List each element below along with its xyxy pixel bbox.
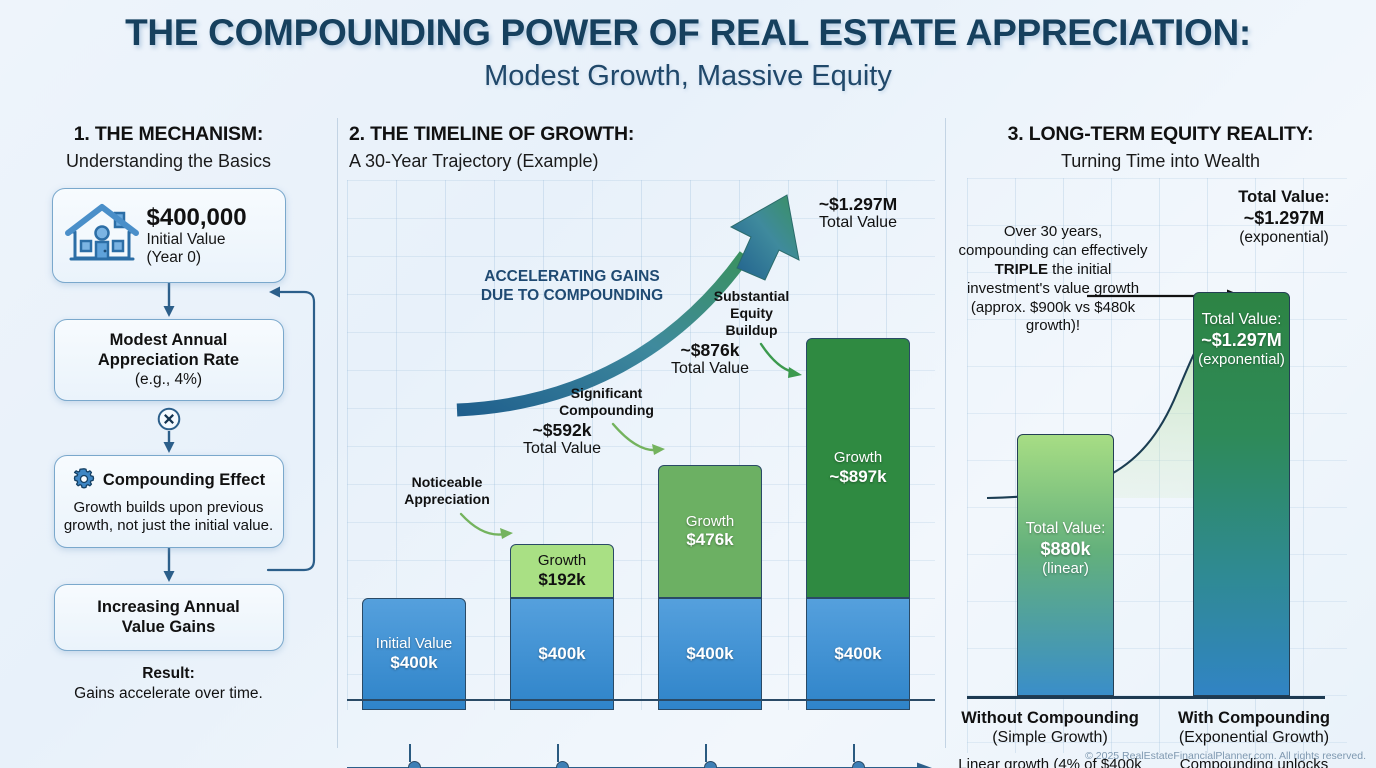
bar-exp-value: ~$1.297M — [1198, 330, 1285, 352]
equity-chart-baseline — [967, 696, 1325, 699]
bar-year-20-growth-segment: Growth $476k — [658, 465, 762, 598]
bar-year-20-growth-amount: $476k — [686, 530, 734, 550]
bar-without-compounding-label: Total Value: $880k (linear) — [1026, 520, 1106, 578]
panel-equity-reality: 3. LONG-TERM EQUITY REALITY: Turning Tim… — [945, 116, 1376, 768]
result-text: Gains accelerate over time. — [0, 685, 337, 703]
panel-equity-header: 3. LONG-TERM EQUITY REALITY: Turning Tim… — [945, 116, 1376, 172]
flow-node-appreciation-rate: Modest Annual Appreciation Rate (e.g., 4… — [54, 319, 284, 401]
callout-significant-line2: Compounding — [544, 402, 669, 419]
bar-year-10: $400k Growth $192k — [510, 544, 614, 710]
initial-value-text: $400,000 Initial Value (Year 0) — [147, 204, 247, 268]
bar-year-0-label-name: Initial Value — [376, 635, 452, 652]
bar-year-20-initial-amount: $400k — [686, 644, 733, 664]
panel-mechanism: 1. THE MECHANISM: Understanding the Basi… — [0, 116, 337, 768]
callout-substantial-line2: Equity — [699, 305, 804, 322]
bar-year-10-growth-name: Growth — [538, 552, 586, 569]
bar-year-10-growth-label: Growth $192k — [538, 552, 586, 589]
curved-arrow-noticeable — [457, 508, 519, 548]
callout-noticeable-line2: Appreciation — [392, 491, 502, 508]
page-title: THE COMPOUNDING POWER OF REAL ESTATE APP… — [0, 14, 1376, 53]
infographic-header: THE COMPOUNDING POWER OF REAL ESTATE APP… — [0, 0, 1376, 93]
footer-with-sub: (Exponential Growth) — [1143, 728, 1365, 748]
total-value-label-year-30: Total Value — [783, 214, 933, 232]
panel-mechanism-subheading: Understanding the Basics — [0, 151, 337, 172]
panel-equity-heading: 3. LONG-TERM EQUITY REALITY: — [945, 123, 1376, 146]
bar-year-10-initial-amount: $400k — [538, 644, 585, 664]
bar-year-10-initial-segment: $400k — [510, 598, 614, 710]
gains-line-1: Increasing Annual — [63, 598, 275, 618]
bar-without-compounding: Total Value: $880k (linear) — [1017, 434, 1114, 696]
callout-noticeable-line1: Noticeable — [392, 474, 502, 491]
flow-arrow-2 — [161, 431, 177, 455]
bar-year-30-initial-segment: $400k — [806, 598, 910, 710]
house-icon — [65, 202, 139, 269]
compounding-note-text: Over 30 years, compounding can effective… — [958, 223, 1147, 334]
panel-equity-subheading: Turning Time into Wealth — [945, 151, 1376, 172]
callout-noticeable-appreciation: Noticeable Appreciation — [392, 474, 502, 508]
mechanism-flowchart: $400,000 Initial Value (Year 0) Modest A… — [0, 188, 337, 651]
rate-line-2: Appreciation Rate — [63, 351, 275, 371]
bar-year-30-initial-amount: $400k — [834, 644, 881, 664]
equity-top-caption-type: (exponential) — [1204, 229, 1364, 248]
compounding-note-emphasis: TRIPLE — [995, 261, 1048, 278]
bar-year-10-growth-segment: Growth $192k — [510, 544, 614, 598]
bar-year-30: $400k Growth ~$897k — [806, 338, 910, 710]
callout-substantial-line3: Buildup — [699, 322, 804, 339]
equity-top-caption-line1: Total Value: — [1204, 188, 1364, 208]
footer-without-title: Without Compounding — [957, 708, 1143, 728]
bar-year-0-initial-segment: Initial Value Initial Value $400k $400k — [362, 598, 466, 710]
equity-top-caption-value: ~$1.297M — [1204, 208, 1364, 230]
panel-timeline: 2. THE TIMELINE OF GROWTH: A 30-Year Tra… — [337, 116, 945, 768]
callout-substantial-equity: Substantial Equity Buildup — [699, 288, 804, 338]
bar-year-20-growth-name: Growth — [686, 513, 734, 530]
copyright-notice: © 2025 RealEstateFinancialPlanner.com. A… — [1085, 750, 1366, 762]
bar-year-30-growth-amount: ~$897k — [829, 467, 886, 487]
mechanism-result: Result: Gains accelerate over time. — [0, 665, 337, 703]
flow-node-compounding-effect: Compounding Effect Growth builds upon pr… — [54, 455, 284, 548]
bar-linear-value: $880k — [1026, 539, 1106, 561]
bar-year-0-amount: $400k — [376, 653, 452, 673]
timeline-dot-year-30[interactable] — [852, 761, 865, 768]
curved-arrow-significant — [609, 420, 671, 466]
flow-node-increasing-gains: Increasing Annual Value Gains — [54, 584, 284, 652]
bar-year-20-initial-segment: $400k — [658, 598, 762, 710]
total-value-year-30: ~$1.297M — [783, 194, 933, 214]
bar-exp-type: (exponential) — [1198, 351, 1285, 369]
panel-timeline-header: 2. THE TIMELINE OF GROWTH: A 30-Year Tra… — [337, 116, 945, 172]
timeline-dot-year-10[interactable] — [556, 761, 569, 768]
bar-year-30-growth-name: Growth — [829, 449, 886, 466]
bar-year-20: $400k Growth $476k — [658, 465, 762, 710]
total-caption-year-30: ~$1.297M Total Value — [783, 194, 933, 233]
initial-value-year: (Year 0) — [147, 249, 247, 267]
bar-year-0: Initial Value Initial Value $400k $400k — [362, 598, 466, 710]
compounding-title-row: Compounding Effect — [63, 467, 275, 496]
callout-significant-line1: Significant — [544, 385, 669, 402]
accelerating-gains-line1: ACCELERATING GAINS — [472, 268, 672, 287]
flow-arrow-1 — [161, 283, 177, 319]
accelerating-gains-label: ACCELERATING GAINS DUE TO COMPOUNDING — [472, 268, 672, 305]
footer-with-title: With Compounding — [1143, 708, 1365, 728]
initial-value-label: Initial Value — [147, 231, 247, 249]
bar-year-10-growth-amount: $192k — [538, 570, 586, 590]
compounding-body: Growth builds upon previous growth, not … — [63, 499, 275, 536]
compounding-note: Over 30 years, compounding can effective… — [957, 223, 1149, 336]
bar-linear-type: (linear) — [1026, 560, 1106, 578]
flow-arrow-3 — [161, 548, 177, 584]
bar-with-compounding-label: Total Value: ~$1.297M (exponential) — [1198, 311, 1285, 369]
timeline-bar-chart: ACCELERATING GAINS DUE TO COMPOUNDING In… — [347, 180, 935, 710]
compounding-title: Compounding Effect — [103, 471, 265, 491]
panel-mechanism-header: 1. THE MECHANISM: Understanding the Basi… — [0, 116, 337, 172]
chart-baseline-axis — [347, 699, 935, 701]
callout-significant-compounding: Significant Compounding — [544, 385, 669, 419]
result-label: Result: — [0, 665, 337, 683]
accelerating-gains-line2: DUE TO COMPOUNDING — [472, 287, 672, 306]
rate-line-3: (e.g., 4%) — [63, 371, 275, 389]
timeline-dot-year-0[interactable] — [408, 761, 421, 768]
bar-linear-line1: Total Value: — [1026, 520, 1106, 539]
bar-exp-line1: Total Value: — [1198, 311, 1285, 330]
bar-year-0-label: Initial Value Initial Value $400k $400k — [376, 635, 452, 672]
bar-year-20-growth-label: Growth $476k — [686, 513, 734, 550]
gains-line-2: Value Gains — [63, 618, 275, 638]
initial-value-amount: $400,000 — [147, 204, 247, 232]
timeline-arrow-line — [347, 761, 935, 768]
callout-substantial-line1: Substantial — [699, 288, 804, 305]
timeline-dot-year-20[interactable] — [704, 761, 717, 768]
panel-mechanism-heading: 1. THE MECHANISM: — [0, 123, 337, 146]
curved-arrow-substantial — [755, 342, 807, 388]
flow-node-initial-value: $400,000 Initial Value (Year 0) — [52, 188, 286, 283]
timeline-axis — [347, 761, 935, 768]
panel-timeline-subheading: A 30-Year Trajectory (Example) — [349, 151, 945, 172]
equity-top-caption: Total Value: ~$1.297M (exponential) — [1204, 188, 1364, 248]
footer-without-sub: (Simple Growth) — [957, 728, 1143, 748]
columns-container: 1. THE MECHANISM: Understanding the Basi… — [0, 116, 1376, 768]
panel-timeline-heading: 2. THE TIMELINE OF GROWTH: — [349, 123, 945, 146]
gear-icon — [72, 467, 96, 496]
bar-year-30-growth-segment: Growth ~$897k — [806, 338, 910, 598]
bar-with-compounding: Total Value: ~$1.297M (exponential) — [1193, 292, 1290, 696]
page-subtitle: Modest Growth, Massive Equity — [0, 60, 1376, 93]
bar-year-30-growth-label: Growth ~$897k — [829, 449, 886, 486]
rate-line-1: Modest Annual — [63, 331, 275, 351]
times-circle-icon — [157, 407, 181, 431]
